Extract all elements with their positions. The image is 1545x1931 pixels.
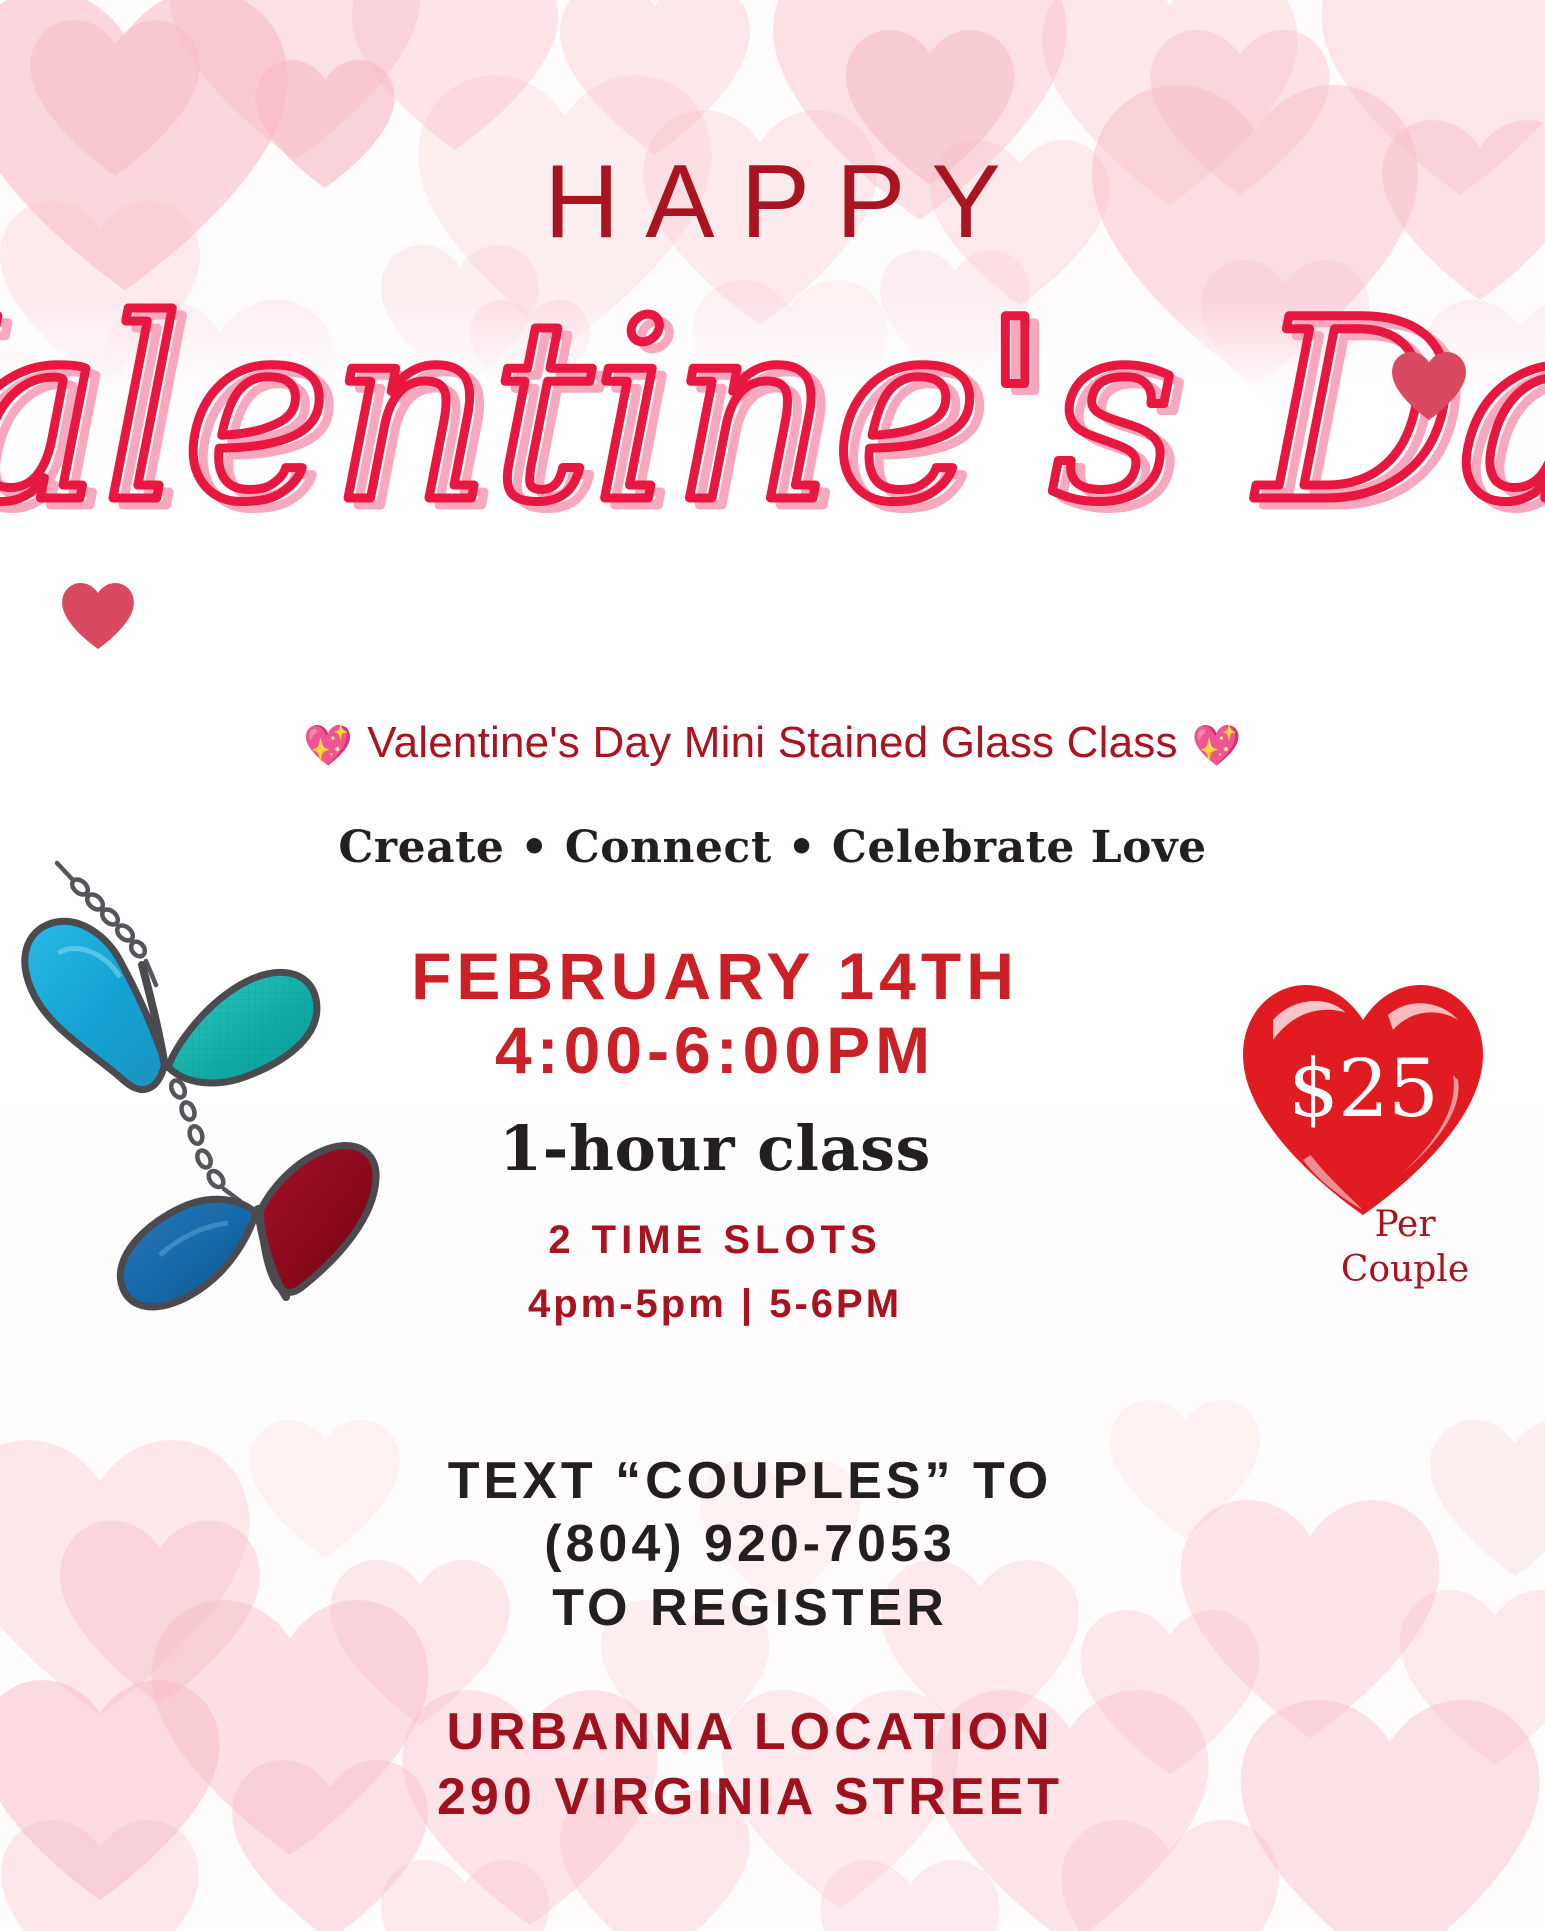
subtitle-text: Valentine's Day Mini Stained Glass Class	[353, 718, 1191, 767]
accent-heart-right-icon	[1392, 352, 1466, 420]
register-action: TO REGISTER	[250, 1577, 1250, 1640]
page-title-happy: HAPPY	[0, 150, 1545, 254]
price-badge: $25	[1238, 975, 1488, 1225]
event-date: FEBRUARY 14TH	[330, 940, 1100, 1014]
price-per-label: Per Couple	[1310, 1202, 1500, 1292]
time-slots-title: 2 TIME SLOTS	[330, 1218, 1100, 1263]
subtitle-row: 💖Valentine's Day Mini Stained Glass Clas…	[0, 718, 1545, 769]
location-address: 290 VIRGINIA STREET	[250, 1765, 1250, 1830]
script-title-main: Valentine's Day	[0, 266, 1545, 557]
price-per-line-2: Couple	[1310, 1247, 1500, 1292]
sparkling-heart-icon-right: 💖	[1192, 724, 1242, 768]
accent-heart-left-icon	[62, 583, 134, 649]
glass-piece-bottom-right	[260, 1146, 376, 1293]
flyer-content: HAPPY Valentine's Day Valentine's Day 💖V…	[0, 0, 1545, 1931]
valentines-flyer: HAPPY Valentine's Day Valentine's Day 💖V…	[0, 0, 1545, 1931]
stained-glass-artwork	[10, 845, 390, 1375]
chain-lower	[168, 1078, 240, 1201]
register-instruction: TEXT “COUPLES” TO	[250, 1450, 1250, 1513]
price-per-line-1: Per	[1310, 1202, 1500, 1247]
price-amount: $25	[1238, 1049, 1488, 1129]
location-name: URBANNA LOCATION	[250, 1700, 1250, 1765]
event-date-block: FEBRUARY 14TH 4:00-6:00PM	[330, 940, 1100, 1088]
glass-piece-bottom-left	[120, 1199, 256, 1307]
sparkling-heart-icon-left: 💖	[303, 724, 353, 768]
registration-block: TEXT “COUPLES” TO (804) 920-7053 TO REGI…	[250, 1450, 1250, 1640]
accent-heart-left	[62, 583, 134, 649]
location-block: URBANNA LOCATION 290 VIRGINIA STREET	[250, 1700, 1250, 1830]
register-phone-number[interactable]: (804) 920-7053	[250, 1513, 1250, 1576]
script-title-svg: Valentine's Day Valentine's Day	[0, 270, 1545, 590]
accent-heart-right	[1392, 352, 1466, 420]
class-duration: 1-hour class	[330, 1112, 1100, 1185]
time-slots-value: 4pm-5pm | 5-6PM	[330, 1282, 1100, 1327]
script-title-valentines-day: Valentine's Day Valentine's Day	[0, 270, 1545, 590]
stained-glass-hearts-svg	[10, 845, 390, 1375]
event-time-range: 4:00-6:00PM	[330, 1014, 1100, 1088]
